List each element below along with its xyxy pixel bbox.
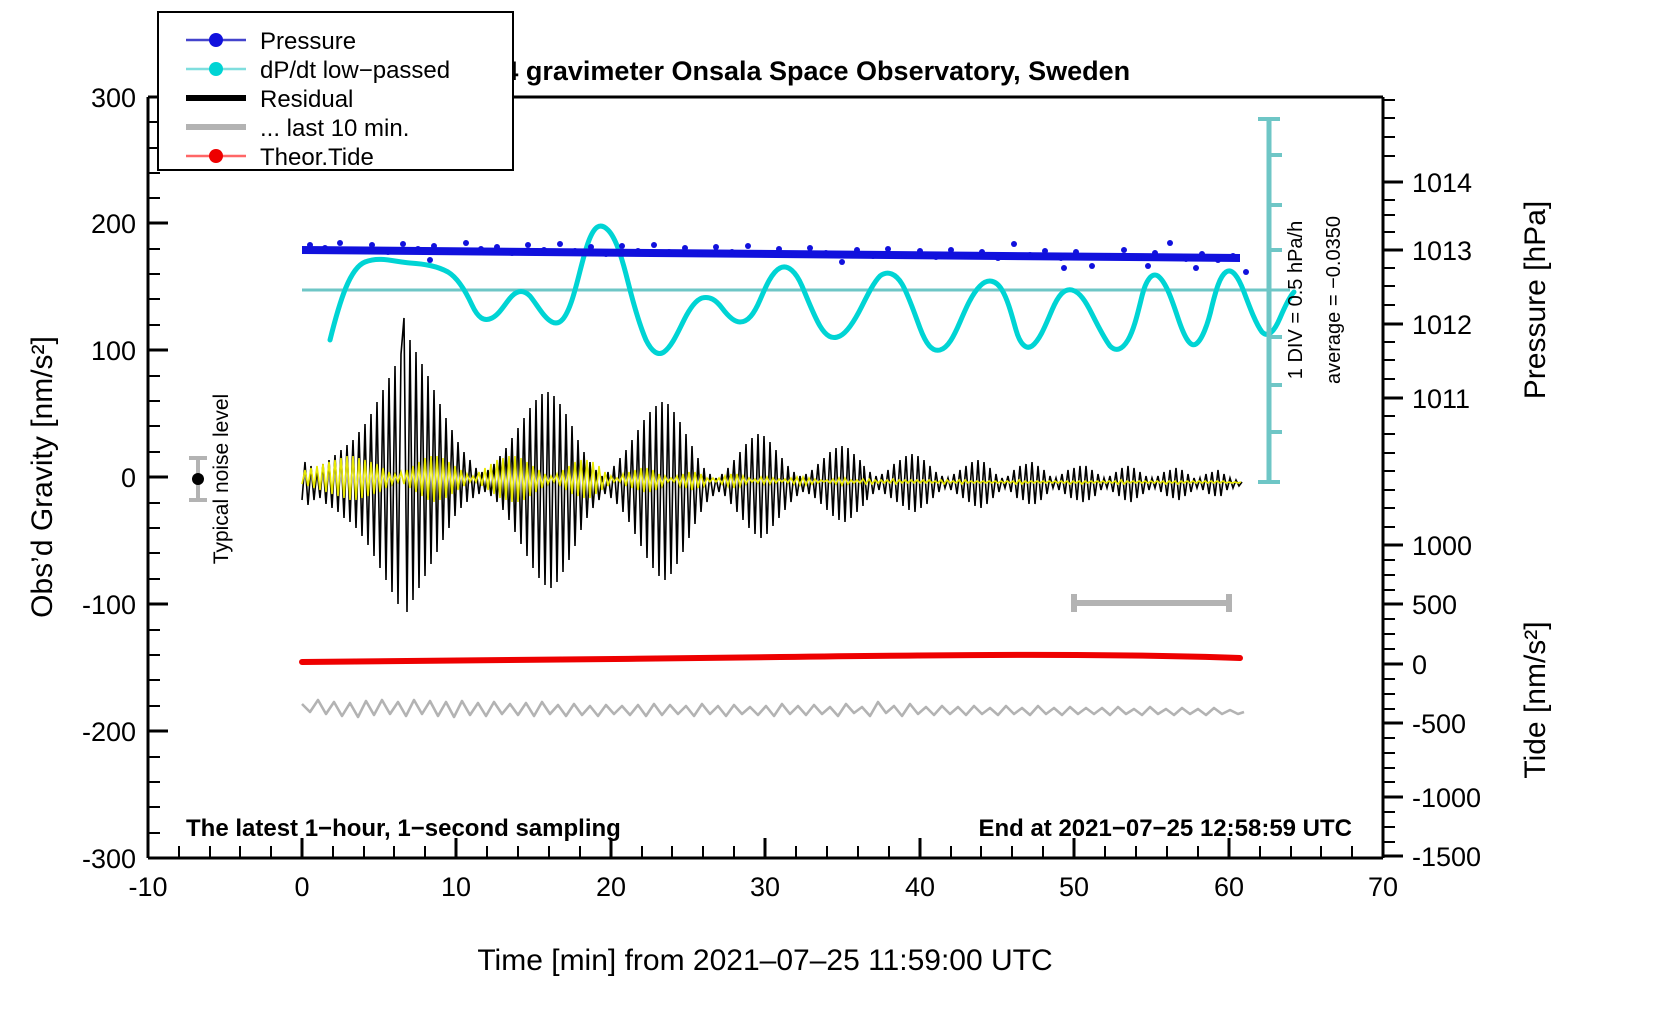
legend-label: Pressure <box>260 28 356 55</box>
legend-label: Residual <box>260 86 353 113</box>
pressure-tick-label: 1013 <box>1412 236 1472 266</box>
y-axis-right-tide-title: Tide [nm/s²] <box>1519 621 1552 778</box>
div-scale-label: 1 DIV = 0.5 hPa/h <box>1285 221 1307 379</box>
gravimeter-plot: 300 200 100 0 -100 -200 -300 <box>0 0 1660 1020</box>
y-tick-label: 300 <box>91 83 136 113</box>
tide-tick-label: -1500 <box>1412 842 1481 872</box>
x-tick-label: 40 <box>905 872 935 902</box>
footer-left-note: The latest 1−hour, 1−second sampling <box>186 815 621 842</box>
legend-marker-pressure <box>209 33 223 47</box>
tide-tick-label: 1000 <box>1412 531 1472 561</box>
y-axis-right-pressure-title: Pressure [hPa] <box>1519 201 1552 399</box>
footer-right-note: End at 2021−07−25 12:58:59 UTC <box>978 815 1352 842</box>
x-tick-label: 20 <box>596 872 626 902</box>
x-tick-label: 30 <box>750 872 780 902</box>
x-tick-label: -10 <box>128 872 167 902</box>
y-axis-left-title: Obs’d Gravity [nm/s²] <box>26 336 59 618</box>
tide-tick-label: -500 <box>1412 709 1466 739</box>
typical-noise-level-label: Typical noise level <box>210 394 233 564</box>
y-tick-label: 200 <box>91 209 136 239</box>
pressure-tick-label: 1011 <box>1412 384 1470 414</box>
tide-tick-label: 500 <box>1412 590 1457 620</box>
y-tick-label: -100 <box>82 590 136 620</box>
x-tick-label: 0 <box>294 872 309 902</box>
legend-label: dP/dt low−passed <box>260 57 450 84</box>
y-tick-label: -300 <box>82 844 136 874</box>
y-tick-label: 100 <box>91 336 136 366</box>
average-label: average = −0.0350 <box>1323 216 1345 384</box>
tide-tick-label: -1000 <box>1412 783 1481 813</box>
x-tick-label: 50 <box>1059 872 1089 902</box>
x-tick-label: 60 <box>1214 872 1244 902</box>
legend: Pressure dP/dt low−passed Residual ... l… <box>158 12 513 171</box>
x-tick-label: 10 <box>441 872 471 902</box>
plot-svg: 300 200 100 0 -100 -200 -300 <box>0 0 1660 1020</box>
x-tick-label: 70 <box>1368 872 1398 902</box>
legend-marker-theortide <box>209 149 223 163</box>
y-tick-label: 0 <box>121 463 136 493</box>
x-axis-title: Time [min] from 2021–07–25 11:59:00 UTC <box>477 944 1052 977</box>
pressure-tick-label: 1014 <box>1412 168 1472 198</box>
y-tick-label: -200 <box>82 717 136 747</box>
legend-marker-dpdt <box>209 62 223 76</box>
tide-tick-label: 0 <box>1412 650 1427 680</box>
legend-label: ... last 10 min. <box>260 115 409 142</box>
pressure-tick-label: 1012 <box>1412 310 1472 340</box>
legend-label: Theor.Tide <box>260 144 374 171</box>
